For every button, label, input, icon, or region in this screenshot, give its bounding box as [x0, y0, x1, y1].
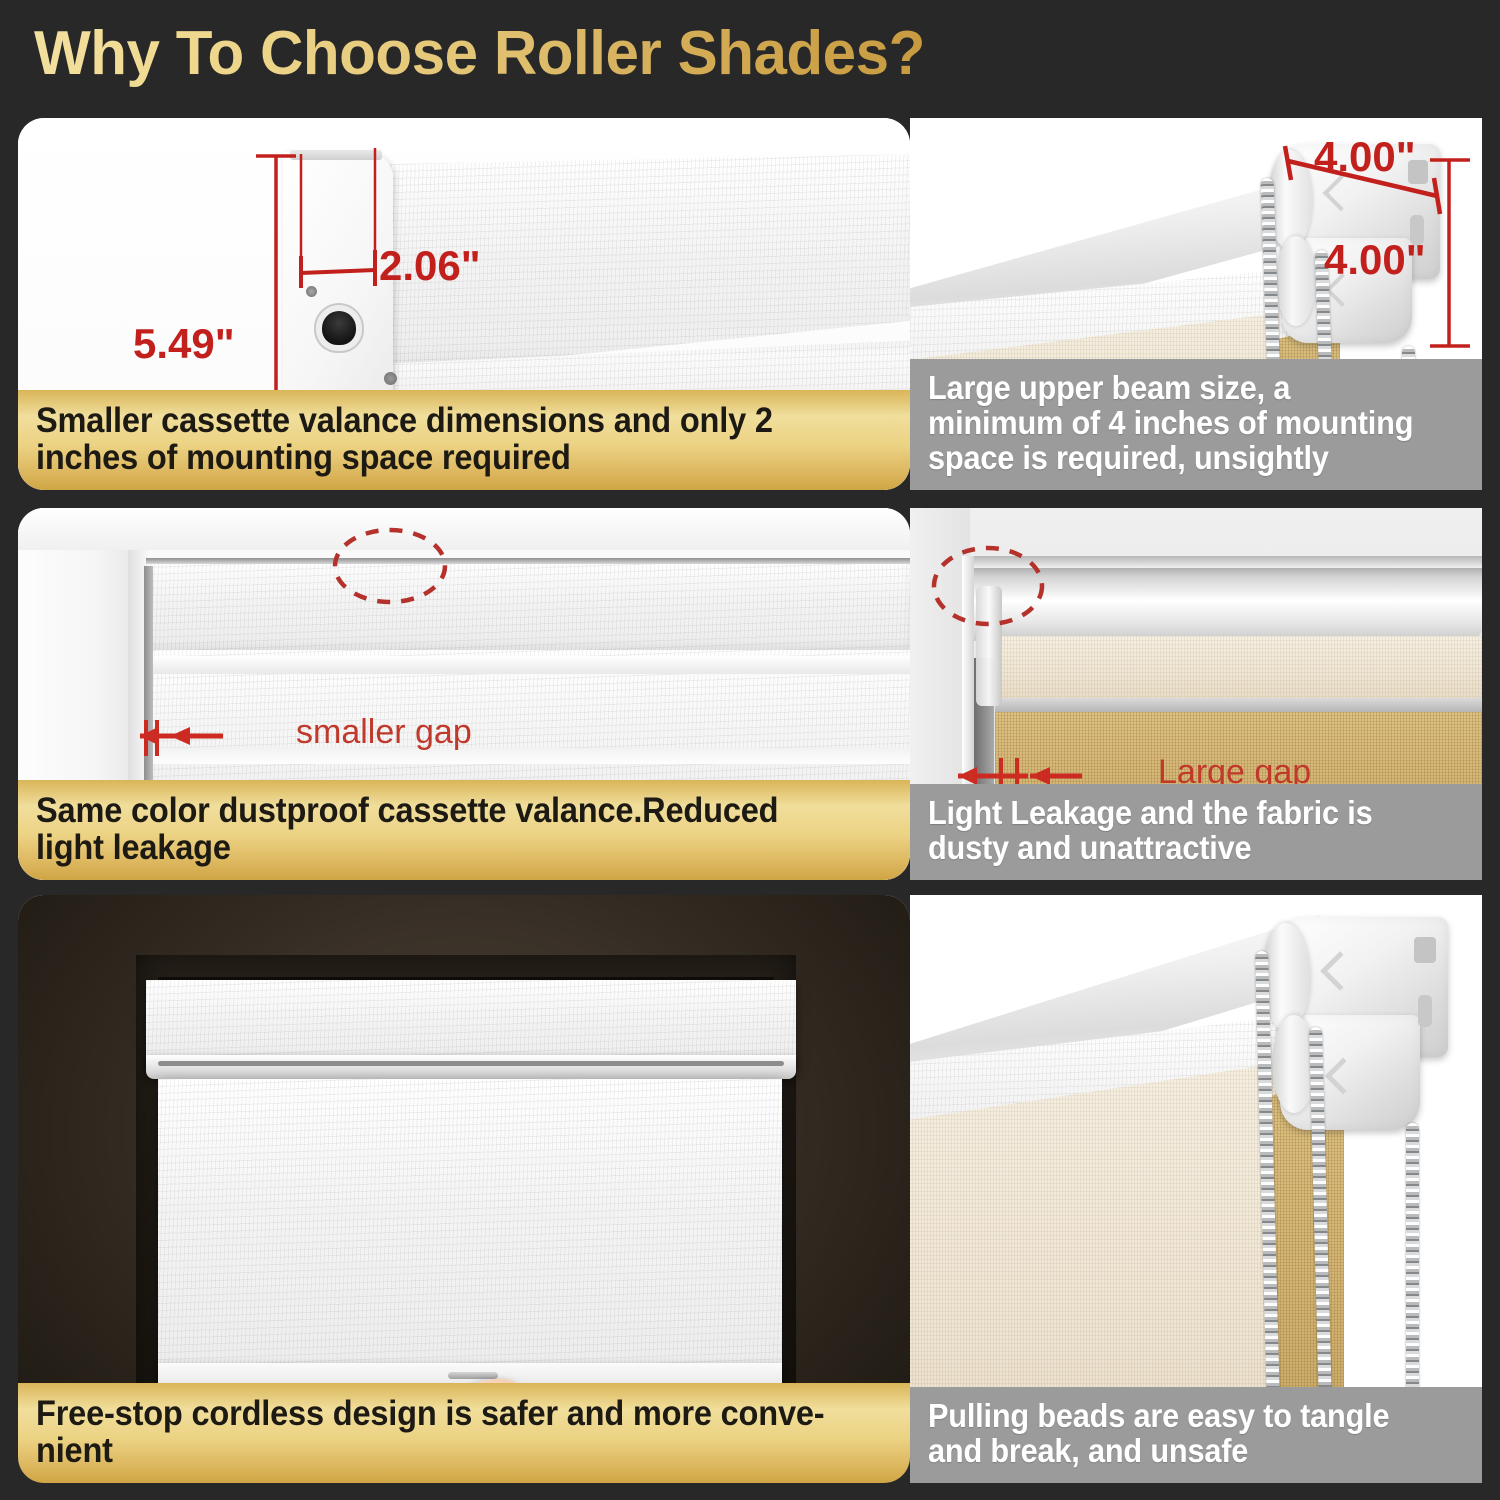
clutch-mechanism [976, 586, 1002, 706]
gap-label: smaller gap [296, 713, 472, 752]
fabric-bottom-rail [995, 698, 1482, 712]
panel-cordless-design: Free-stop cordless design is safer and m… [18, 895, 910, 1483]
top-screw-icon [306, 286, 317, 297]
frame-top [18, 508, 910, 550]
cassette-valance [146, 560, 910, 650]
panel-pulling-beads: Pulling beads are easy to tangle and bre… [910, 895, 1482, 1483]
panel-caption: Large upper beam size, a minimum of 4 in… [910, 359, 1482, 490]
panel-caption-text: Pulling beads are easy to tangle and bre… [928, 1399, 1428, 1469]
panel-caption: Free-stop cordless design is safer and m… [18, 1383, 910, 1483]
panel-caption-text: Same color dustproof cassette valance.Re… [36, 792, 834, 866]
panel-caption: Same color dustproof cassette valance.Re… [18, 780, 910, 880]
cream-fabric [995, 636, 1482, 702]
height-dimension-label: 5.49" [133, 320, 235, 368]
panel-caption-text: Free-stop cordless design is safer and m… [36, 1395, 834, 1469]
roller-tube [965, 563, 1482, 641]
fabric-fold-line [150, 748, 910, 764]
bracket-slot-icon [1414, 937, 1436, 963]
clutch-hole-icon [322, 311, 356, 345]
cap-top-slot [290, 150, 382, 160]
fabric-fold-line [150, 656, 910, 674]
panel-caption-text: Large upper beam size, a minimum of 4 in… [928, 371, 1428, 476]
screw-icon [384, 372, 397, 385]
panel-caption: Pulling beads are easy to tangle and bre… [910, 1387, 1482, 1483]
valance-groove [158, 1061, 784, 1066]
panel-large-upper-beam: 4.00" 4.00" Large upper beam size, a min… [910, 118, 1482, 490]
valance-top-edge [146, 558, 910, 564]
shade-fabric [158, 1079, 782, 1379]
panel-caption-text: Smaller cassette valance dimensions and … [36, 402, 834, 476]
comparison-grid: 2.06" 5.49" Smaller cassette valance dim… [0, 0, 1500, 1500]
panel-cassette-dimensions: 2.06" 5.49" Smaller cassette valance dim… [18, 118, 910, 490]
panel-caption: Light Leakage and the fabric is dusty an… [910, 784, 1482, 880]
width-dimension-label: 2.06" [379, 242, 481, 290]
height-dimension-label: 4.00" [1324, 236, 1426, 284]
panel-caption: Smaller cassette valance dimensions and … [18, 390, 910, 490]
panel-caption-text: Light Leakage and the fabric is dusty an… [928, 796, 1428, 866]
rail-handle-icon [448, 1372, 498, 1379]
bracket-slot2-icon [1418, 995, 1432, 1027]
width-dimension-label: 4.00" [1314, 133, 1416, 181]
roller-disc-lower [1276, 236, 1316, 326]
panel-smaller-gap: smaller gap Same color dustproof cassett… [18, 508, 910, 880]
valance-lip [146, 1055, 796, 1079]
tube-top-cap [965, 556, 1482, 568]
panel-large-gap: Large gap Light Leakage and the fabric i… [910, 508, 1482, 880]
